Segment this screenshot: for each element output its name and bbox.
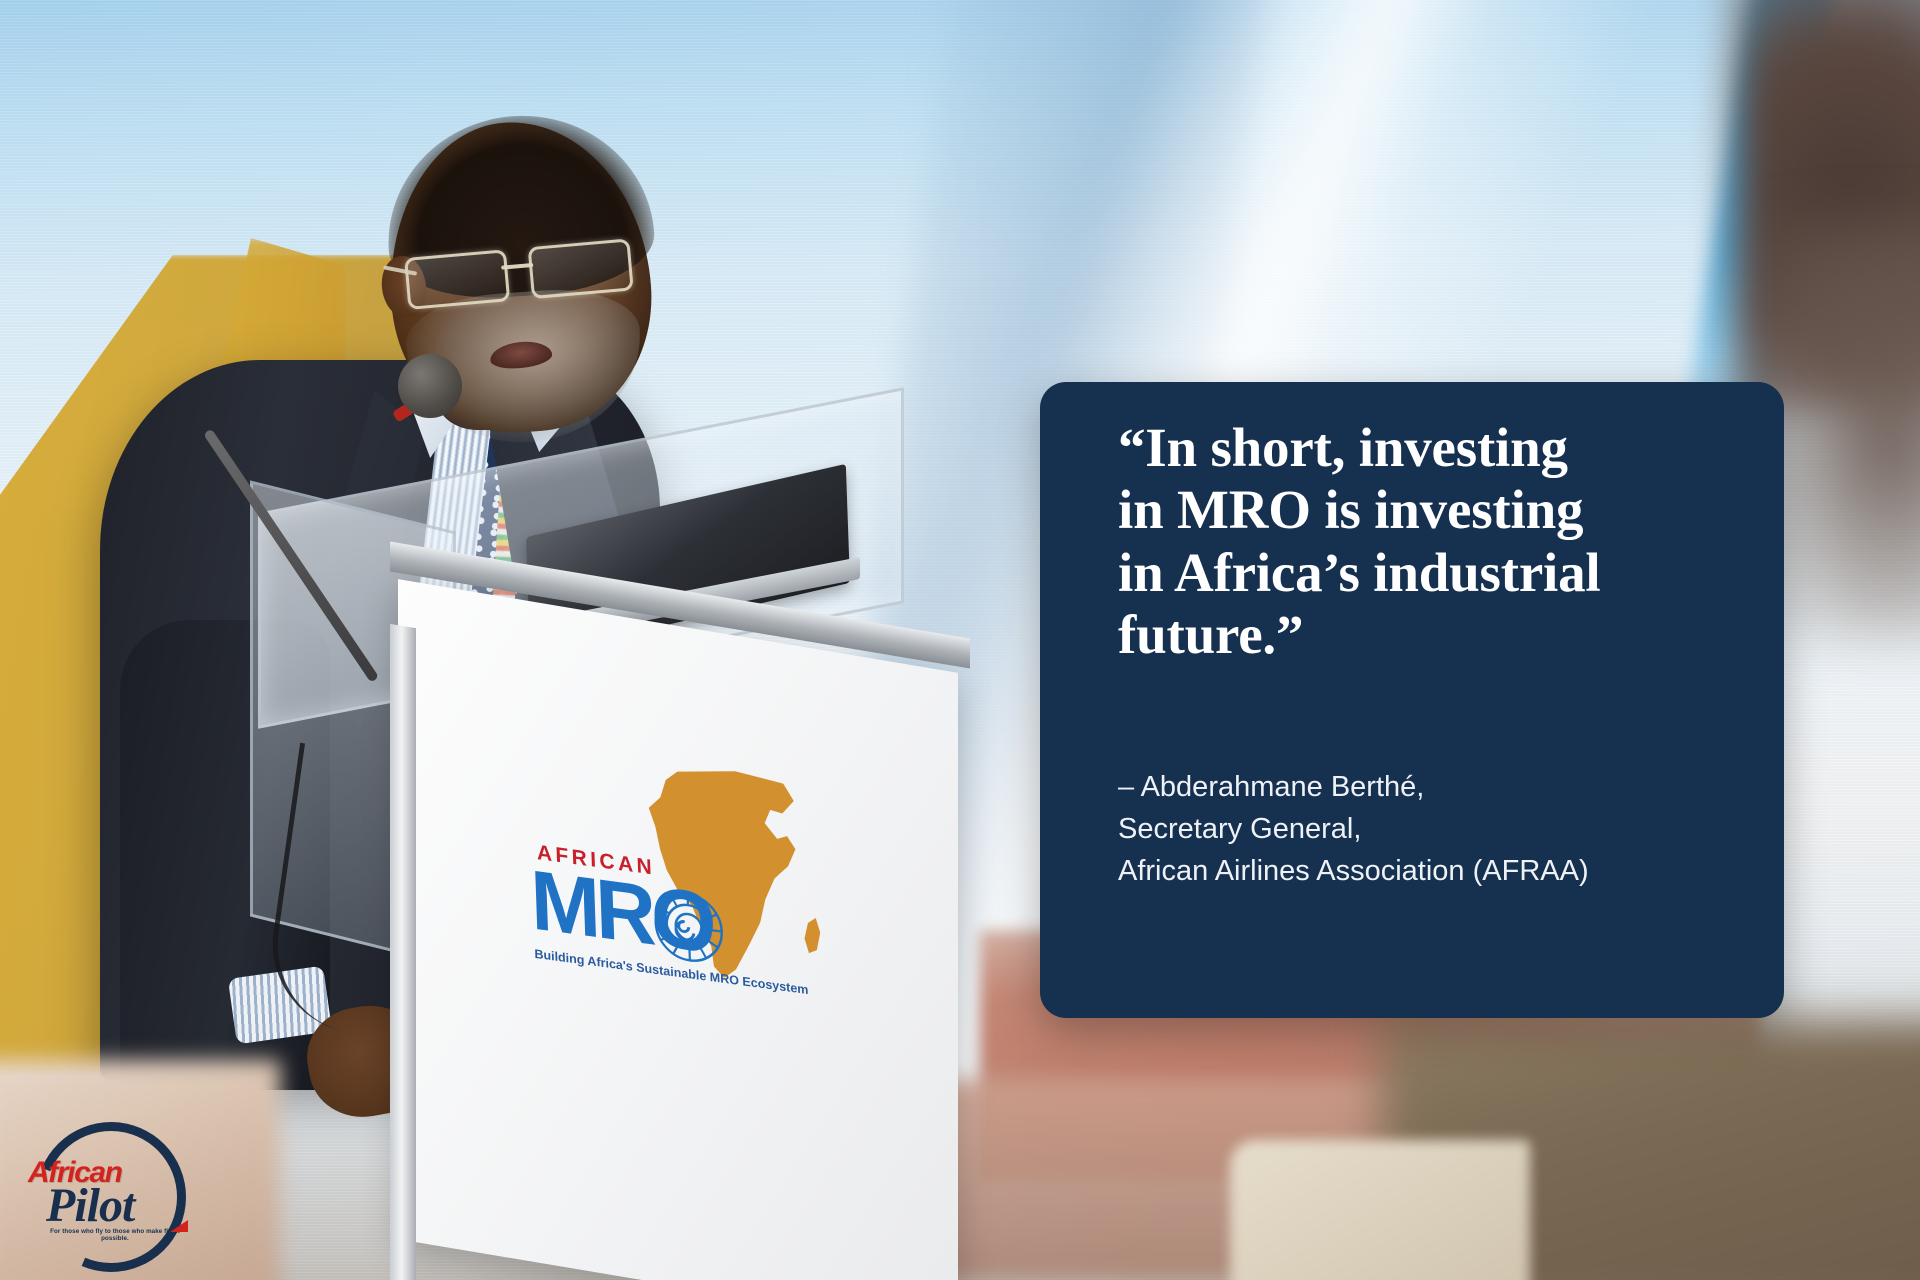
- logo-tagline: For those who fly to those who make flig…: [40, 1228, 190, 1242]
- microphone-head: [398, 354, 462, 418]
- quote-line: “In short, investing: [1118, 417, 1718, 479]
- glasses-lens-right: [528, 238, 634, 299]
- quote-graphic: AFRICAN MRO Building Africa's Sustainabl…: [0, 0, 1920, 1280]
- turbine-spiral-icon: [647, 882, 730, 973]
- attribution-organisation: African Airlines Association (AFRAA): [1118, 850, 1718, 892]
- quote-card: “In short, investing in MRO is investing…: [1040, 382, 1784, 1018]
- lectern-panel-rail-left: [390, 624, 416, 1280]
- african-mro-logo: AFRICAN MRO Building Africa's Sustainabl…: [515, 734, 905, 1086]
- quote-line: future.”: [1118, 604, 1718, 666]
- quote-line: in MRO is investing: [1118, 479, 1718, 541]
- african-pilot-logo: African Pilot For those who fly to those…: [22, 1116, 194, 1266]
- logo-pilot-word: Pilot: [46, 1178, 134, 1233]
- quote-line: in Africa’s industrial: [1118, 542, 1718, 604]
- quote-text: “In short, investing in MRO is investing…: [1118, 417, 1718, 667]
- attribution-title: Secretary General,: [1118, 808, 1718, 850]
- quote-attribution: – Abderahmane Berthé, Secretary General,…: [1118, 766, 1718, 892]
- foreground-blur-right-lower: [1760, 220, 1920, 640]
- attribution-name: – Abderahmane Berthé,: [1118, 766, 1718, 808]
- glasses-lens-left: [404, 249, 510, 310]
- foreground-chair-blur: [1230, 1140, 1530, 1280]
